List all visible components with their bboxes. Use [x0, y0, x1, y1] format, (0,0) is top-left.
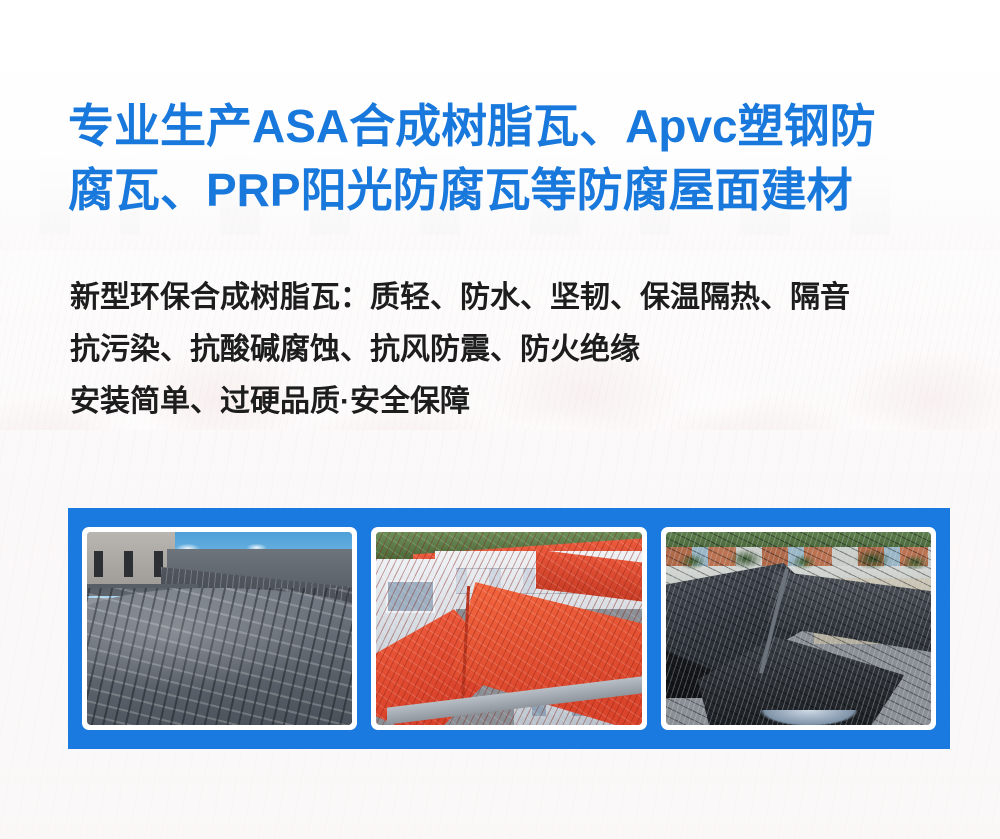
photo1-main-tile-roof [87, 588, 352, 725]
photo3-tarp [756, 710, 862, 725]
gallery-photo-red-roof[interactable] [371, 527, 646, 730]
feature-list: 新型环保合成树脂瓦：质轻、防水、坚韧、保温隔热、隔音 抗污染、抗酸碱腐蚀、抗风防… [70, 272, 970, 428]
photo3-tile-texture [666, 532, 931, 725]
headline-line-1: 专业生产ASA合成树脂瓦、Apvc塑钢防 [68, 94, 948, 158]
red-resin-tile-roof-image [376, 532, 641, 725]
grey-resin-tile-roof-image [87, 532, 352, 725]
photo-gallery [68, 508, 950, 749]
black-resin-tile-roof-image [666, 532, 931, 725]
page-title: 专业生产ASA合成树脂瓦、Apvc塑钢防 腐瓦、PRP阳光防腐瓦等防腐屋面建材 [68, 94, 948, 222]
feature-line-2: 抗污染、抗酸碱腐蚀、抗风防震、防火绝缘 [70, 324, 970, 376]
feature-line-3: 安装简单、过硬品质·安全保障 [70, 376, 970, 428]
headline-line-2: 腐瓦、PRP阳光防腐瓦等防腐屋面建材 [68, 158, 948, 222]
gallery-photo-grey-roof[interactable] [82, 527, 357, 730]
photo1-tile-sheen [87, 588, 352, 725]
feature-line-1: 新型环保合成树脂瓦：质轻、防水、坚韧、保温隔热、隔音 [70, 272, 970, 324]
gallery-photo-black-roof[interactable] [661, 527, 936, 730]
